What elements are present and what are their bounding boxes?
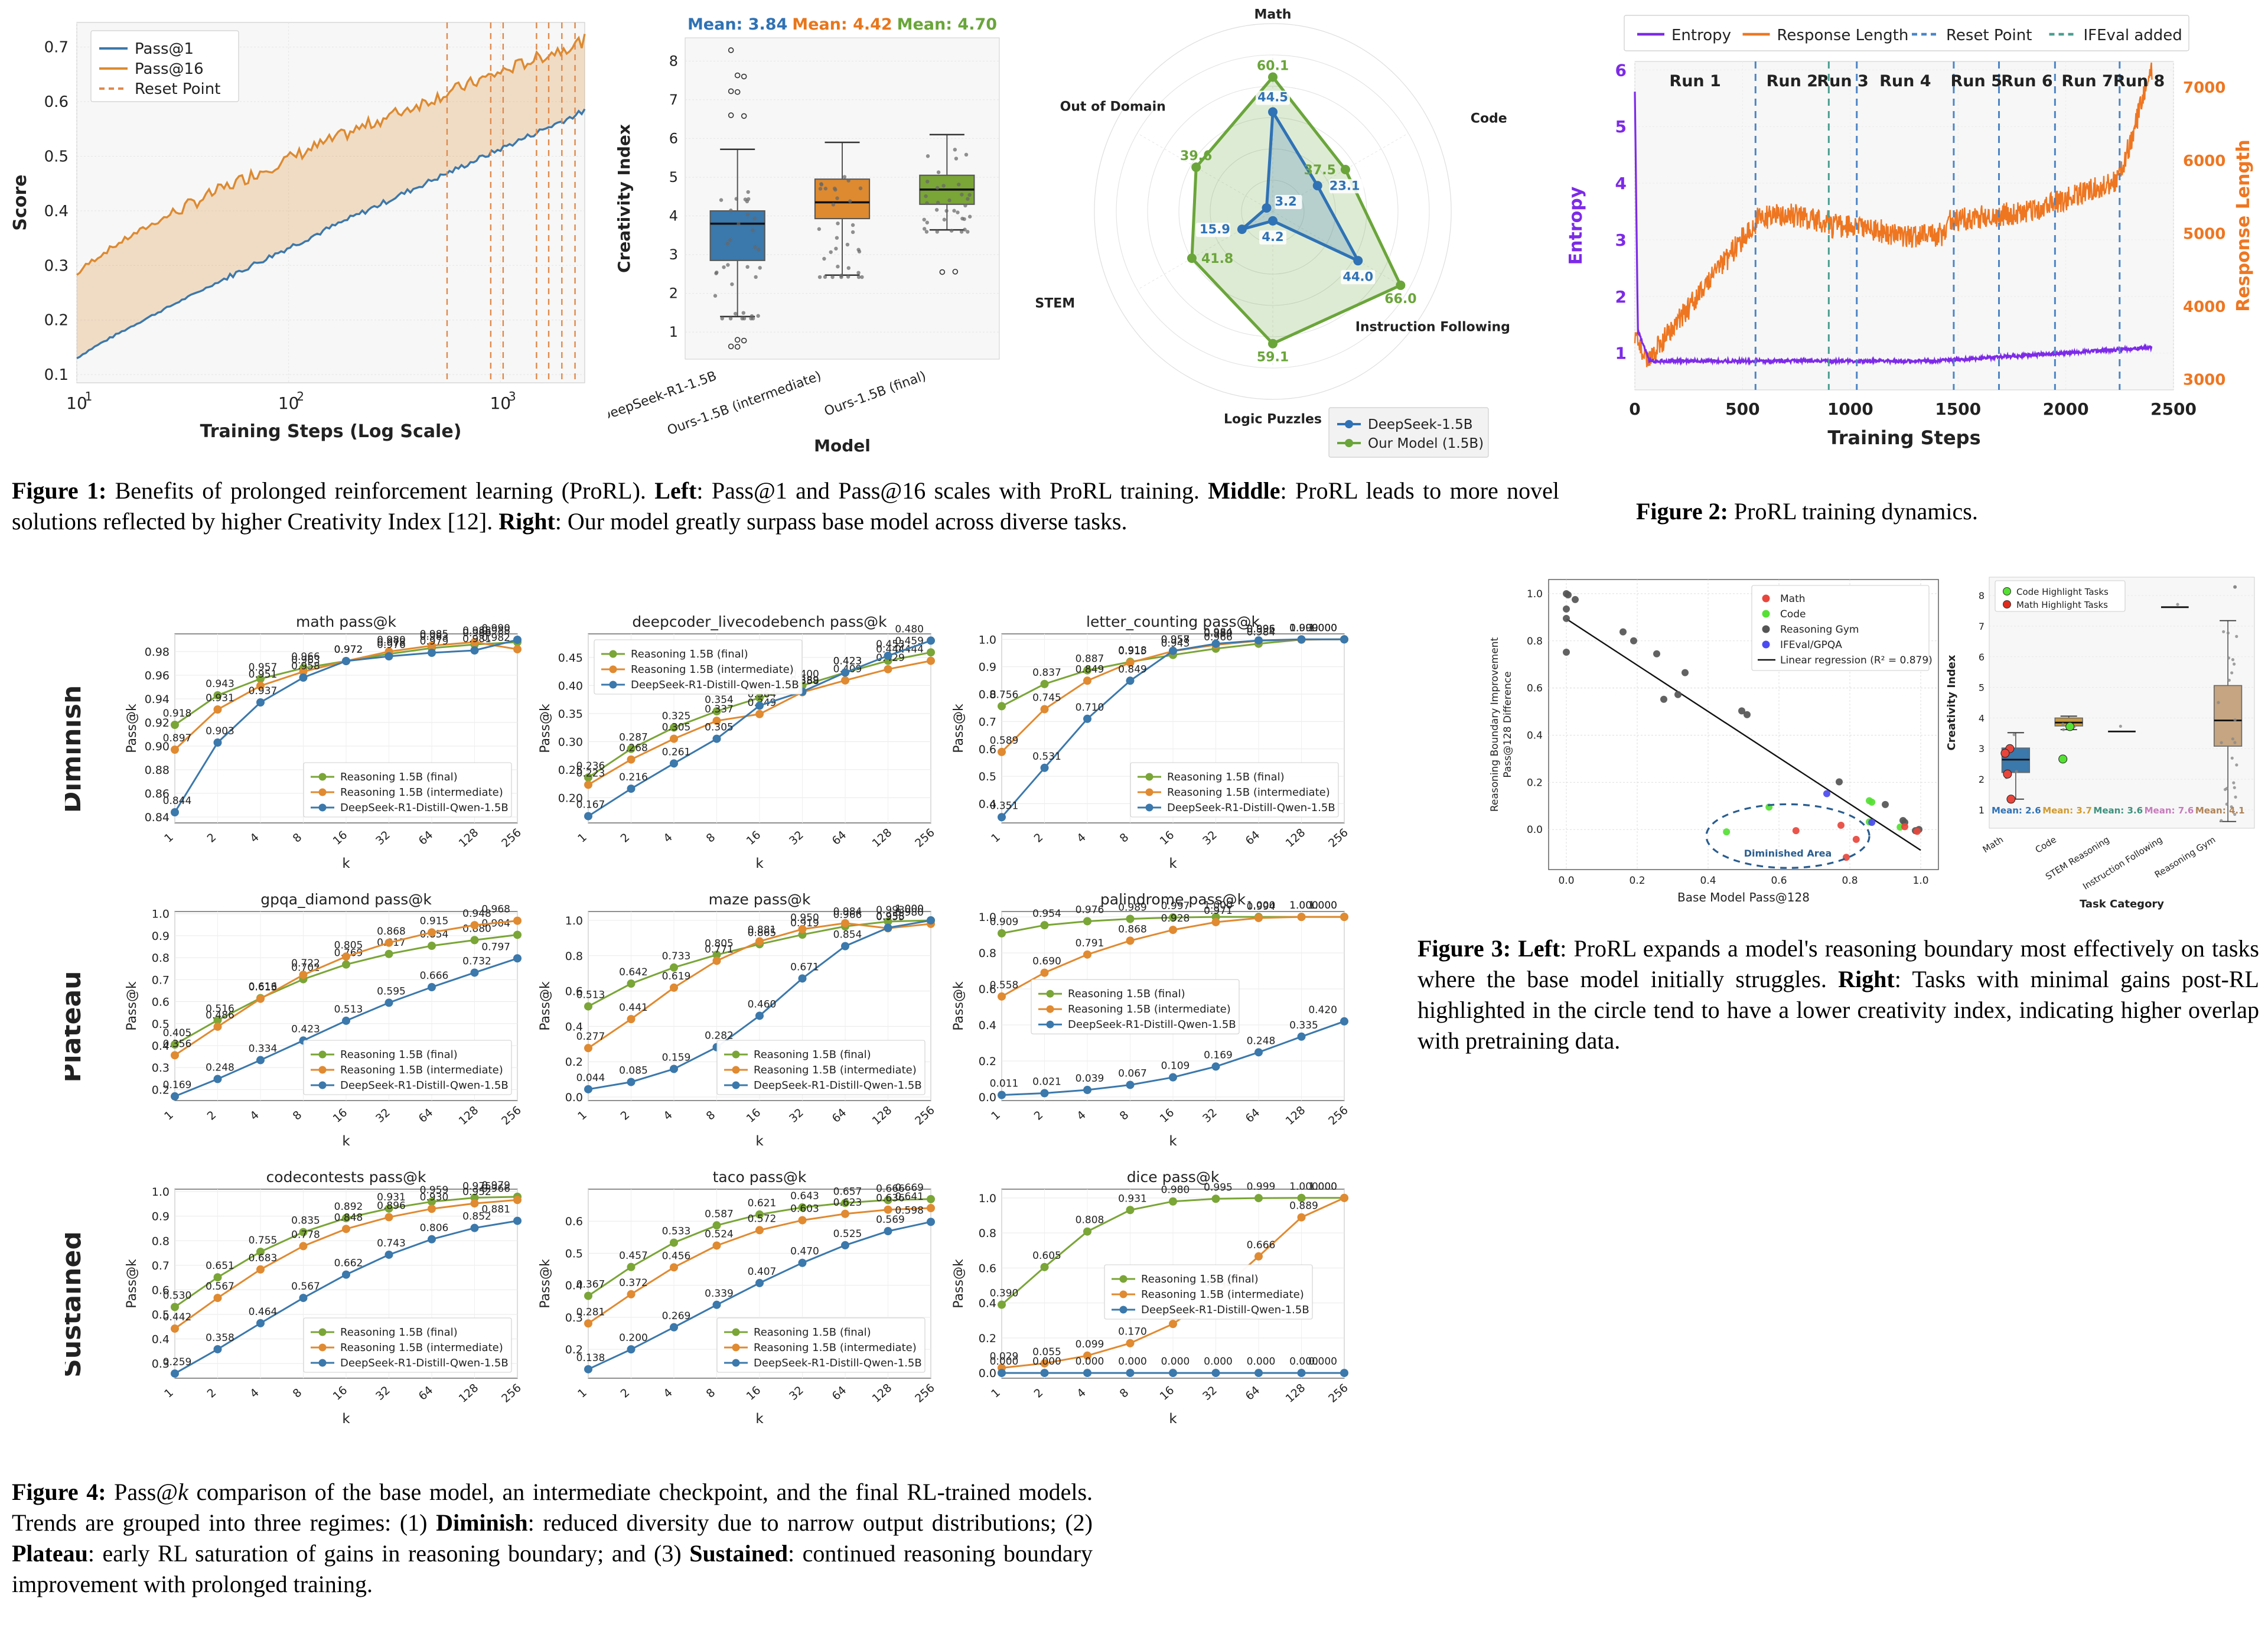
radar-value-label: 37.5 [1304,163,1336,178]
series-point [171,746,179,754]
figure2-caption-label: Figure 2: [1636,498,1728,525]
data-label: 0.613 [249,982,278,994]
y-tick: 0.6 [565,1215,583,1228]
x-tick: 64 [416,828,436,848]
series-point [841,942,849,951]
data-label: 0.470 [790,1246,819,1258]
series-point [385,652,393,660]
series-point [214,1023,222,1031]
legend-label: Entropy [1671,27,1731,44]
series-point [1126,1339,1135,1347]
legend-label: IFEval/GPQA [1780,639,1842,651]
series-point [1254,914,1263,922]
figure4-caption-label: Figure 4: [12,1479,106,1505]
series-point [1041,680,1049,688]
series-point [299,673,308,682]
plot-title: deepcoder_livecodebench pass@k [632,613,887,630]
legend-label: Reasoning 1.5B (final) [1141,1273,1259,1285]
series-point [584,812,592,821]
series-point [171,1051,179,1059]
data-label: 0.662 [334,1258,363,1270]
y-tick: 0.8 [565,950,583,963]
data-label: 0.170 [1118,1326,1147,1338]
data-label: 0.958 [291,660,320,672]
x-tick: 32 [1200,1106,1220,1125]
data-label: 0.530 [163,1290,192,1301]
x-tick: 4 [247,1386,262,1400]
legend-label: Math [1780,593,1806,605]
data-label: 0.021 [1032,1076,1061,1088]
data-label: 0.931 [206,692,234,704]
data-label: 0.567 [206,1281,234,1293]
data-label: 0.651 [206,1260,234,1272]
data-label: 0.339 [705,1288,734,1300]
plot-title: gpqa_diamond pass@k [260,891,432,908]
math-highlight-dot [2003,770,2012,778]
data-label: 0.930 [420,1192,449,1203]
data-label: 0.797 [481,941,510,953]
legend-label: Reasoning 1.5B (intermediate) [1141,1288,1304,1301]
radar-axis-label: Instruction Following [1355,320,1510,334]
series-point [385,1251,393,1259]
series-point [342,1271,350,1279]
x-tick: 10 [490,393,511,413]
series-point [713,1241,721,1249]
x-tick: 2500 [2150,399,2197,419]
x-tick: 64 [830,1384,849,1403]
y-tick: 2 [669,285,678,302]
x-tick: 32 [373,1384,393,1403]
legend-label: Response Length [1777,27,1909,44]
row-label-diminish: Diminish [65,685,87,813]
data-label: 0.169 [163,1079,192,1091]
series-point [171,1092,179,1101]
series-point [755,938,764,946]
data-label: 0.367 [576,1279,605,1291]
data-label: 0.966 [481,1183,510,1194]
series-point [471,1224,479,1232]
series-point [927,636,935,645]
data-label: 0.533 [662,1226,691,1238]
data-label: 0.281 [576,1306,605,1318]
series-point [428,1235,436,1244]
x-tick: 0.2 [1629,875,1645,887]
series-point [1041,764,1049,772]
figure1-left-panel: 0.10.20.30.40.50.60.7101102103Training S… [6,5,602,466]
mean-label: Mean: 4.1 [2195,805,2245,816]
series-point [927,1218,935,1226]
legend-label: Reasoning 1.5B (intermediate) [754,1342,917,1354]
data-label: 0.169 [1204,1049,1233,1061]
x-tick: 1 [575,1386,589,1400]
x-tick: 4 [1074,831,1089,845]
scatter-point [1619,629,1627,636]
data-label: 0.981 [462,633,491,645]
data-label: 0.896 [377,1200,406,1212]
series-point [471,968,479,977]
y-tick: 0.2 [44,312,69,330]
x-tick: 4 [1074,1386,1089,1400]
data-label: 0.000 [1032,1356,1061,1368]
x-tick-exp: 3 [509,389,516,403]
legend-label: DeepSeek-R1-Distill-Qwen-1.5B [1141,1304,1309,1316]
mean-label: Mean: 7.6 [2145,805,2194,816]
series-point [755,1226,764,1234]
x-tick: 500 [1725,399,1759,419]
legend-label: DeepSeek-R1-Distill-Qwen-1.5B [340,1079,509,1092]
y-tick: 0.5 [44,148,69,165]
x-tick: 32 [1200,1384,1220,1403]
figure3-caption-text: Left: ProRL expands a model's reasoning … [1417,935,2259,1054]
x-category-label: Ours-1.5B (final) [822,369,928,419]
x-tick: 256 [913,1104,937,1128]
series-point [385,998,393,1007]
x-axis-label: Base Model Pass@128 [1677,890,1810,904]
data-label: 0.305 [662,722,691,734]
row-label-plateau: Plateau [65,971,87,1083]
series-point [214,1075,222,1083]
x-tick: 32 [373,1106,393,1125]
data-label: 0.868 [1118,923,1147,935]
y-tick-right: 6000 [2183,152,2225,170]
series-point [1298,1369,1306,1377]
series-point [513,1196,522,1204]
x-tick: 64 [416,1384,436,1403]
data-label: 0.909 [990,916,1019,928]
y-tick: 6 [669,130,678,147]
data-label: 0.456 [662,1250,691,1262]
y-tick: 0.4 [44,203,69,220]
data-label: 1.000 [1308,1181,1337,1193]
data-label: 0.931 [1118,1193,1147,1205]
y-tick-left: 2 [1615,287,1627,307]
y-tick: 0.7 [152,974,170,987]
legend-label: Reasoning 1.5B (final) [340,771,458,783]
x-tick: 64 [830,828,849,848]
data-label: 0.513 [334,1004,363,1015]
data-label: 0.950 [790,912,819,924]
series-point [214,738,222,747]
data-label: 0.268 [619,743,648,754]
legend-label: Reasoning 1.5B (final) [754,1326,871,1339]
figure3-caption-label: Figure 3: [1417,935,1511,962]
y-tick: 0.6 [152,996,170,1009]
figure1-right-panel: MathCodeInstruction FollowingLogic Puzzl… [1022,5,1542,466]
x-tick: 8 [704,1108,718,1122]
series-point [513,930,522,939]
y-tick: 5 [1979,682,1984,694]
run-label: Run 1 [1669,72,1720,90]
x-tick: 8 [1117,1108,1132,1122]
x-tick: 128 [457,826,481,850]
row-label-sustained: Sustained [65,1231,87,1378]
y-axis-label: Pass@k [538,981,553,1031]
y-tick-right: 3000 [2183,371,2225,389]
scatter-point [1868,799,1875,806]
y-tick: 0.0 [979,1091,996,1104]
legend-label: DeepSeek-R1-Distill-Qwen-1.5B [340,802,509,814]
data-label: 0.486 [206,1010,234,1021]
series-point [998,748,1006,756]
x-tick: 16 [331,1384,350,1403]
data-label: 0.984 [1204,627,1233,639]
x-tick: 4 [661,831,675,845]
y-tick: 0.3 [152,1062,170,1075]
y-tick: 0.9 [152,1210,170,1223]
data-label: 0.216 [619,772,648,783]
data-label: 0.567 [291,1281,320,1293]
figure1-caption-text: Benefits of prolonged reinforcement lear… [12,477,1559,535]
data-label: 0.587 [705,1208,734,1220]
data-label: 0.259 [163,1356,192,1368]
series-point [1298,1033,1306,1041]
x-tick: 128 [870,826,895,850]
data-label: 0.958 [1161,634,1190,646]
x-tick: 1 [575,831,589,845]
x-tick: 0.4 [1700,875,1716,887]
data-label: 0.683 [249,1252,278,1264]
x-tick: 2 [205,1386,219,1400]
x-tick: 4 [661,1386,675,1400]
data-label: 0.710 [1076,702,1104,714]
data-label: 0.968 [481,904,510,916]
data-label: 0.722 [291,958,320,969]
series-point [256,1056,265,1065]
y-tick: 0.40 [558,679,583,692]
data-label: 0.666 [1247,1239,1276,1251]
data-label: 0.999 [1247,1181,1276,1193]
series-point [1169,1369,1177,1377]
data-label: 0.881 [748,925,777,936]
series-point [342,1225,350,1233]
data-label: 0.990 [481,623,510,634]
y-tick: 0.9 [152,930,170,943]
y-tick: 0.3 [44,257,69,275]
series-point [256,1265,265,1274]
x-tick: 8 [291,1386,305,1400]
x-tick: 0.0 [1558,875,1574,887]
series-point [299,1294,308,1302]
series-point [214,1273,222,1281]
data-label: 0.261 [662,746,691,758]
figure1-caption: Figure 1: Benefits of prolonged reinforc… [12,476,1559,537]
x-tick: 10 [66,393,87,413]
x-tick: 32 [787,1106,806,1125]
radar-value-label: 39.6 [1180,149,1212,164]
legend-label: Math Highlight Tasks [2016,600,2108,610]
data-label: 0.971 [1204,905,1233,917]
series-point [171,1369,179,1378]
series-point [1041,705,1049,714]
data-label: 0.200 [619,1332,648,1344]
data-label: 0.334 [249,1043,278,1055]
y-tick: 0.5 [979,770,996,783]
data-label: 0.745 [1032,692,1061,704]
legend-label: IFEval added [2084,27,2182,44]
x-tick: 128 [457,1381,481,1405]
x-tick-exp: 1 [85,389,93,403]
series-point [584,780,592,789]
series-point [927,916,935,925]
radar-value-label: 60.1 [1257,58,1289,73]
figure2-panel: 1234563000400050006000700005001000150020… [1559,5,2262,466]
y-axis-label: Creativity Index [614,124,634,273]
series-point [1298,913,1306,921]
series-point [1126,936,1135,945]
y-tick-left: 6 [1615,60,1627,80]
x-tick: 128 [870,1381,895,1405]
data-label: 0.806 [420,1222,449,1234]
code-highlight-dot [2059,755,2067,763]
legend-label: Reset Point [135,80,220,98]
x-axis-label: k [755,1411,764,1427]
x-axis-label: k [1169,1134,1177,1149]
data-label: 0.980 [1161,1184,1190,1196]
x-tick: 2 [205,1108,219,1122]
x-axis-label: k [755,856,764,871]
x-category-label: Math [1981,834,2005,855]
data-label: 0.996 [1247,623,1276,635]
data-label: 0.000 [1204,1356,1233,1368]
y-tick: 1 [1979,805,1984,816]
x-axis-label: k [1169,856,1177,871]
series-point [841,669,849,677]
series-point [1126,676,1135,685]
data-label: 0.937 [249,685,278,697]
data-label: 0.915 [1118,646,1147,657]
figure1-middle-panel: 12345678Mean: 3.84DeepSeek-R1-1.5BMean: … [608,5,1010,466]
x-tick: 32 [787,828,806,848]
x-axis-label: Training Steps (Log Scale) [200,421,462,442]
series-point [428,983,436,991]
y-axis-label: Pass@k [538,704,553,753]
x-tick: 64 [1243,1106,1263,1125]
series-point [755,710,764,718]
y-tick: 0.4 [1527,730,1543,741]
data-label: 0.621 [748,1197,777,1209]
series-point [1169,926,1177,934]
y-tick: 8 [1979,590,1984,601]
series-point [1254,636,1263,645]
x-tick: 1 [989,1108,1003,1122]
x-axis-label: Task Category [2080,898,2164,910]
x-tick: 64 [1243,1384,1263,1403]
legend-label: Code Highlight Tasks [2016,587,2109,597]
plot-area [1635,61,2173,390]
series-point [755,1279,764,1287]
figure2-caption-text: ProRL training dynamics. [1728,498,1978,525]
y-axis-label: Pass@k [538,1259,553,1308]
data-label: 0.138 [576,1352,605,1364]
y-tick: 0.1 [44,366,69,384]
scatter-point [1630,637,1637,645]
x-tick: 2 [618,831,633,845]
x-tick: 128 [1283,1104,1308,1128]
y-axis-label: Pass@k [125,704,139,753]
x-tick: 1 [989,1386,1003,1400]
series-point [171,721,179,729]
data-label: 0.835 [291,1215,320,1227]
x-tick: 64 [1243,828,1263,848]
radar-value-label: 3.2 [1275,194,1297,209]
series-point [214,1345,222,1353]
y-tick: 0.8 [1527,636,1543,647]
series-point [627,1015,636,1023]
y-tick: 0.88 [145,764,170,777]
data-label: 0.642 [619,966,648,978]
y-tick: 7 [1979,621,1984,632]
series-point [342,961,350,969]
x-tick: 1 [162,831,176,845]
data-label: 0.805 [334,939,363,951]
y-tick: 1.0 [979,633,996,646]
data-label: 0.854 [833,929,862,941]
data-label: 0.598 [895,1205,924,1216]
series-point [1169,1073,1177,1082]
x-tick: 32 [787,1384,806,1403]
series-point [256,995,265,1003]
series-point [998,929,1006,938]
series-point [256,698,265,707]
y-tick: 2 [1979,774,1984,785]
x-tick: 16 [744,828,764,848]
data-label: 0.951 [249,669,278,681]
y-tick: 0.6 [44,93,69,111]
data-label: 0.067 [1118,1067,1147,1079]
radar-axis-label: Code [1471,112,1507,126]
data-label: 0.109 [1161,1060,1190,1072]
legend-label: DeepSeek-R1-Distill-Qwen-1.5B [631,679,799,691]
x-tick: 8 [704,1386,718,1400]
x-tick: 256 [1326,1104,1351,1128]
series-point [1340,913,1348,921]
data-label: 0.771 [705,943,734,955]
series-point [670,1323,678,1332]
scatter-point [1744,711,1751,718]
y-tick: 0.0 [1527,824,1543,836]
data-label: 0.248 [206,1062,234,1074]
data-label: 0.954 [1032,908,1061,920]
series-point [385,1213,393,1221]
series-point [998,1369,1006,1377]
legend-label: Reasoning 1.5B (intermediate) [1068,1003,1231,1015]
series-point [1041,1089,1049,1098]
legend-label: Reasoning 1.5B (intermediate) [340,1342,503,1354]
legend-label: DeepSeek-R1-Distill-Qwen-1.5B [1068,1018,1236,1031]
y-tick: 0.7 [979,715,996,728]
data-label: 0.995 [1204,1181,1233,1193]
series-point [884,1206,892,1214]
legend-label: Reasoning 1.5B (final) [1167,771,1285,783]
series-point [1083,1086,1091,1094]
y-tick-left: 5 [1615,117,1627,136]
y-tick: 4 [1979,712,1984,724]
data-label: 0.989 [1118,901,1147,913]
data-label: 0.671 [790,961,819,973]
series-point [342,1017,350,1025]
series-point [171,1324,179,1333]
data-label: 0.979 [420,636,449,647]
radar-value-label: 44.0 [1342,269,1373,284]
data-label: 0.605 [1032,1250,1061,1262]
series-point [214,1294,222,1302]
series-point [584,1085,592,1093]
y-axis-label-left: Entropy [1566,186,1586,265]
y-axis-label: Pass@k [951,981,966,1031]
series-point [1298,1213,1306,1222]
x-tick: 256 [499,1104,524,1128]
series-point [385,939,393,947]
